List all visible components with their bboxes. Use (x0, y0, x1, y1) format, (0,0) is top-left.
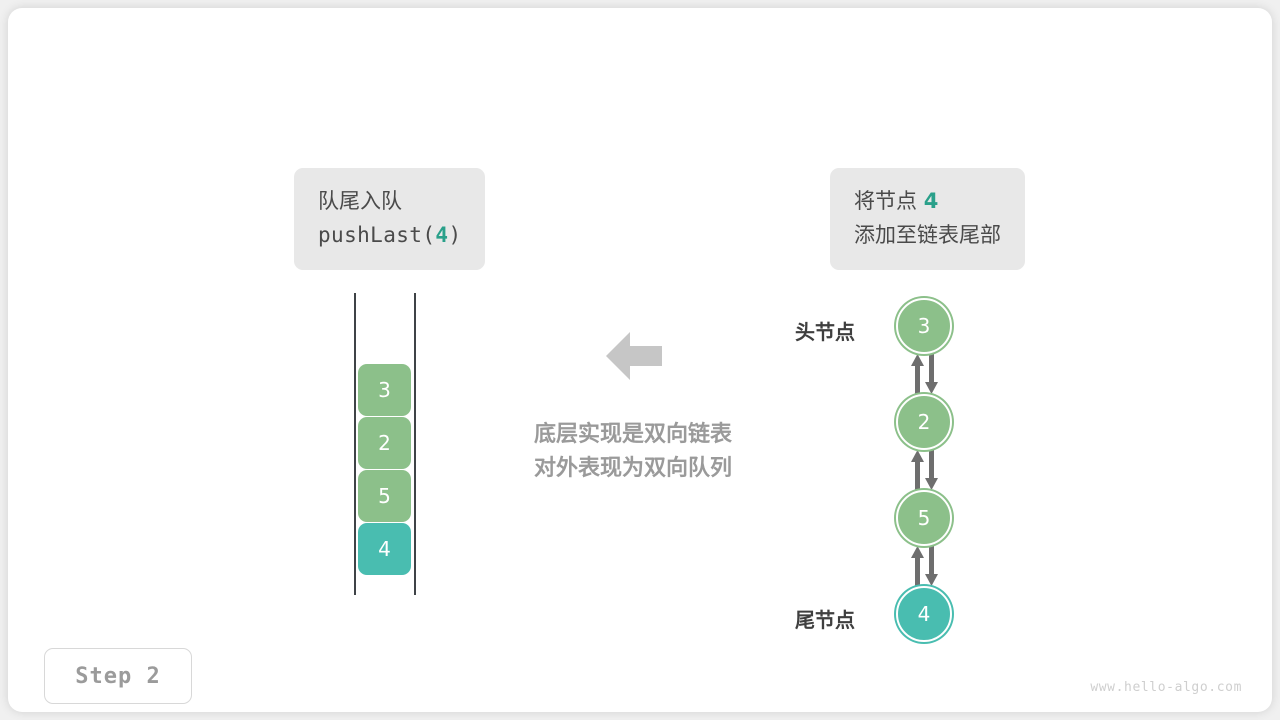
code-value: 4 (435, 223, 448, 247)
step-badge: Step 2 (44, 648, 192, 704)
bidirectional-link-icon (904, 354, 946, 394)
center-note: 底层实现是双向链表 对外表现为双向队列 (508, 418, 758, 486)
list-node: 5 (896, 490, 952, 546)
list-node: 3 (896, 298, 952, 354)
push-operation-code: pushLast(4) (318, 223, 461, 247)
node-append-value: 4 (924, 189, 939, 213)
queue-item: 5 (358, 470, 411, 522)
node-append-line1: 将节点 4 (854, 184, 1001, 218)
queue-item-value: 5 (378, 484, 391, 508)
left-arrow-icon (604, 328, 664, 384)
list-node: 2 (896, 394, 952, 450)
queue-rail-left (354, 293, 356, 595)
node-append-label: 将节点 4 添加至链表尾部 (830, 168, 1025, 270)
list-node-value: 4 (918, 602, 931, 626)
head-node-label: 头节点 (795, 316, 855, 345)
push-operation-title: 队尾入队 (318, 184, 461, 218)
queue-item-value: 2 (378, 431, 391, 455)
queue-item: 3 (358, 364, 411, 416)
queue-item-list: 3 2 5 4 (358, 364, 411, 575)
code-prefix: pushLast( (318, 223, 435, 247)
center-note-line2: 对外表现为双向队列 (508, 452, 758, 486)
list-node: 4 (896, 586, 952, 642)
list-node-value: 3 (918, 314, 931, 338)
watermark: www.hello-algo.com (1090, 680, 1242, 695)
step-badge-label: Step 2 (75, 664, 160, 689)
node-append-line2: 添加至链表尾部 (854, 218, 1001, 252)
bidirectional-link-icon (904, 450, 946, 490)
diagram-canvas: 队尾入队 pushLast(4) 将节点 4 添加至链表尾部 3 2 5 4 底… (8, 8, 1272, 712)
list-node-value: 5 (918, 506, 931, 530)
queue-item-value: 4 (378, 537, 391, 561)
center-note-line1: 底层实现是双向链表 (508, 418, 758, 452)
linked-list: 3 2 5 (896, 298, 960, 650)
node-append-prefix: 将节点 (854, 189, 924, 213)
queue-rail-right (414, 293, 416, 595)
queue-item: 2 (358, 417, 411, 469)
queue-container: 3 2 5 4 (354, 293, 416, 595)
tail-node-label: 尾节点 (795, 604, 855, 633)
code-suffix: ) (448, 223, 461, 247)
bidirectional-link-icon (904, 546, 946, 586)
queue-item-value: 3 (378, 378, 391, 402)
queue-item: 4 (358, 523, 411, 575)
push-operation-label: 队尾入队 pushLast(4) (294, 168, 485, 270)
list-node-value: 2 (918, 410, 931, 434)
